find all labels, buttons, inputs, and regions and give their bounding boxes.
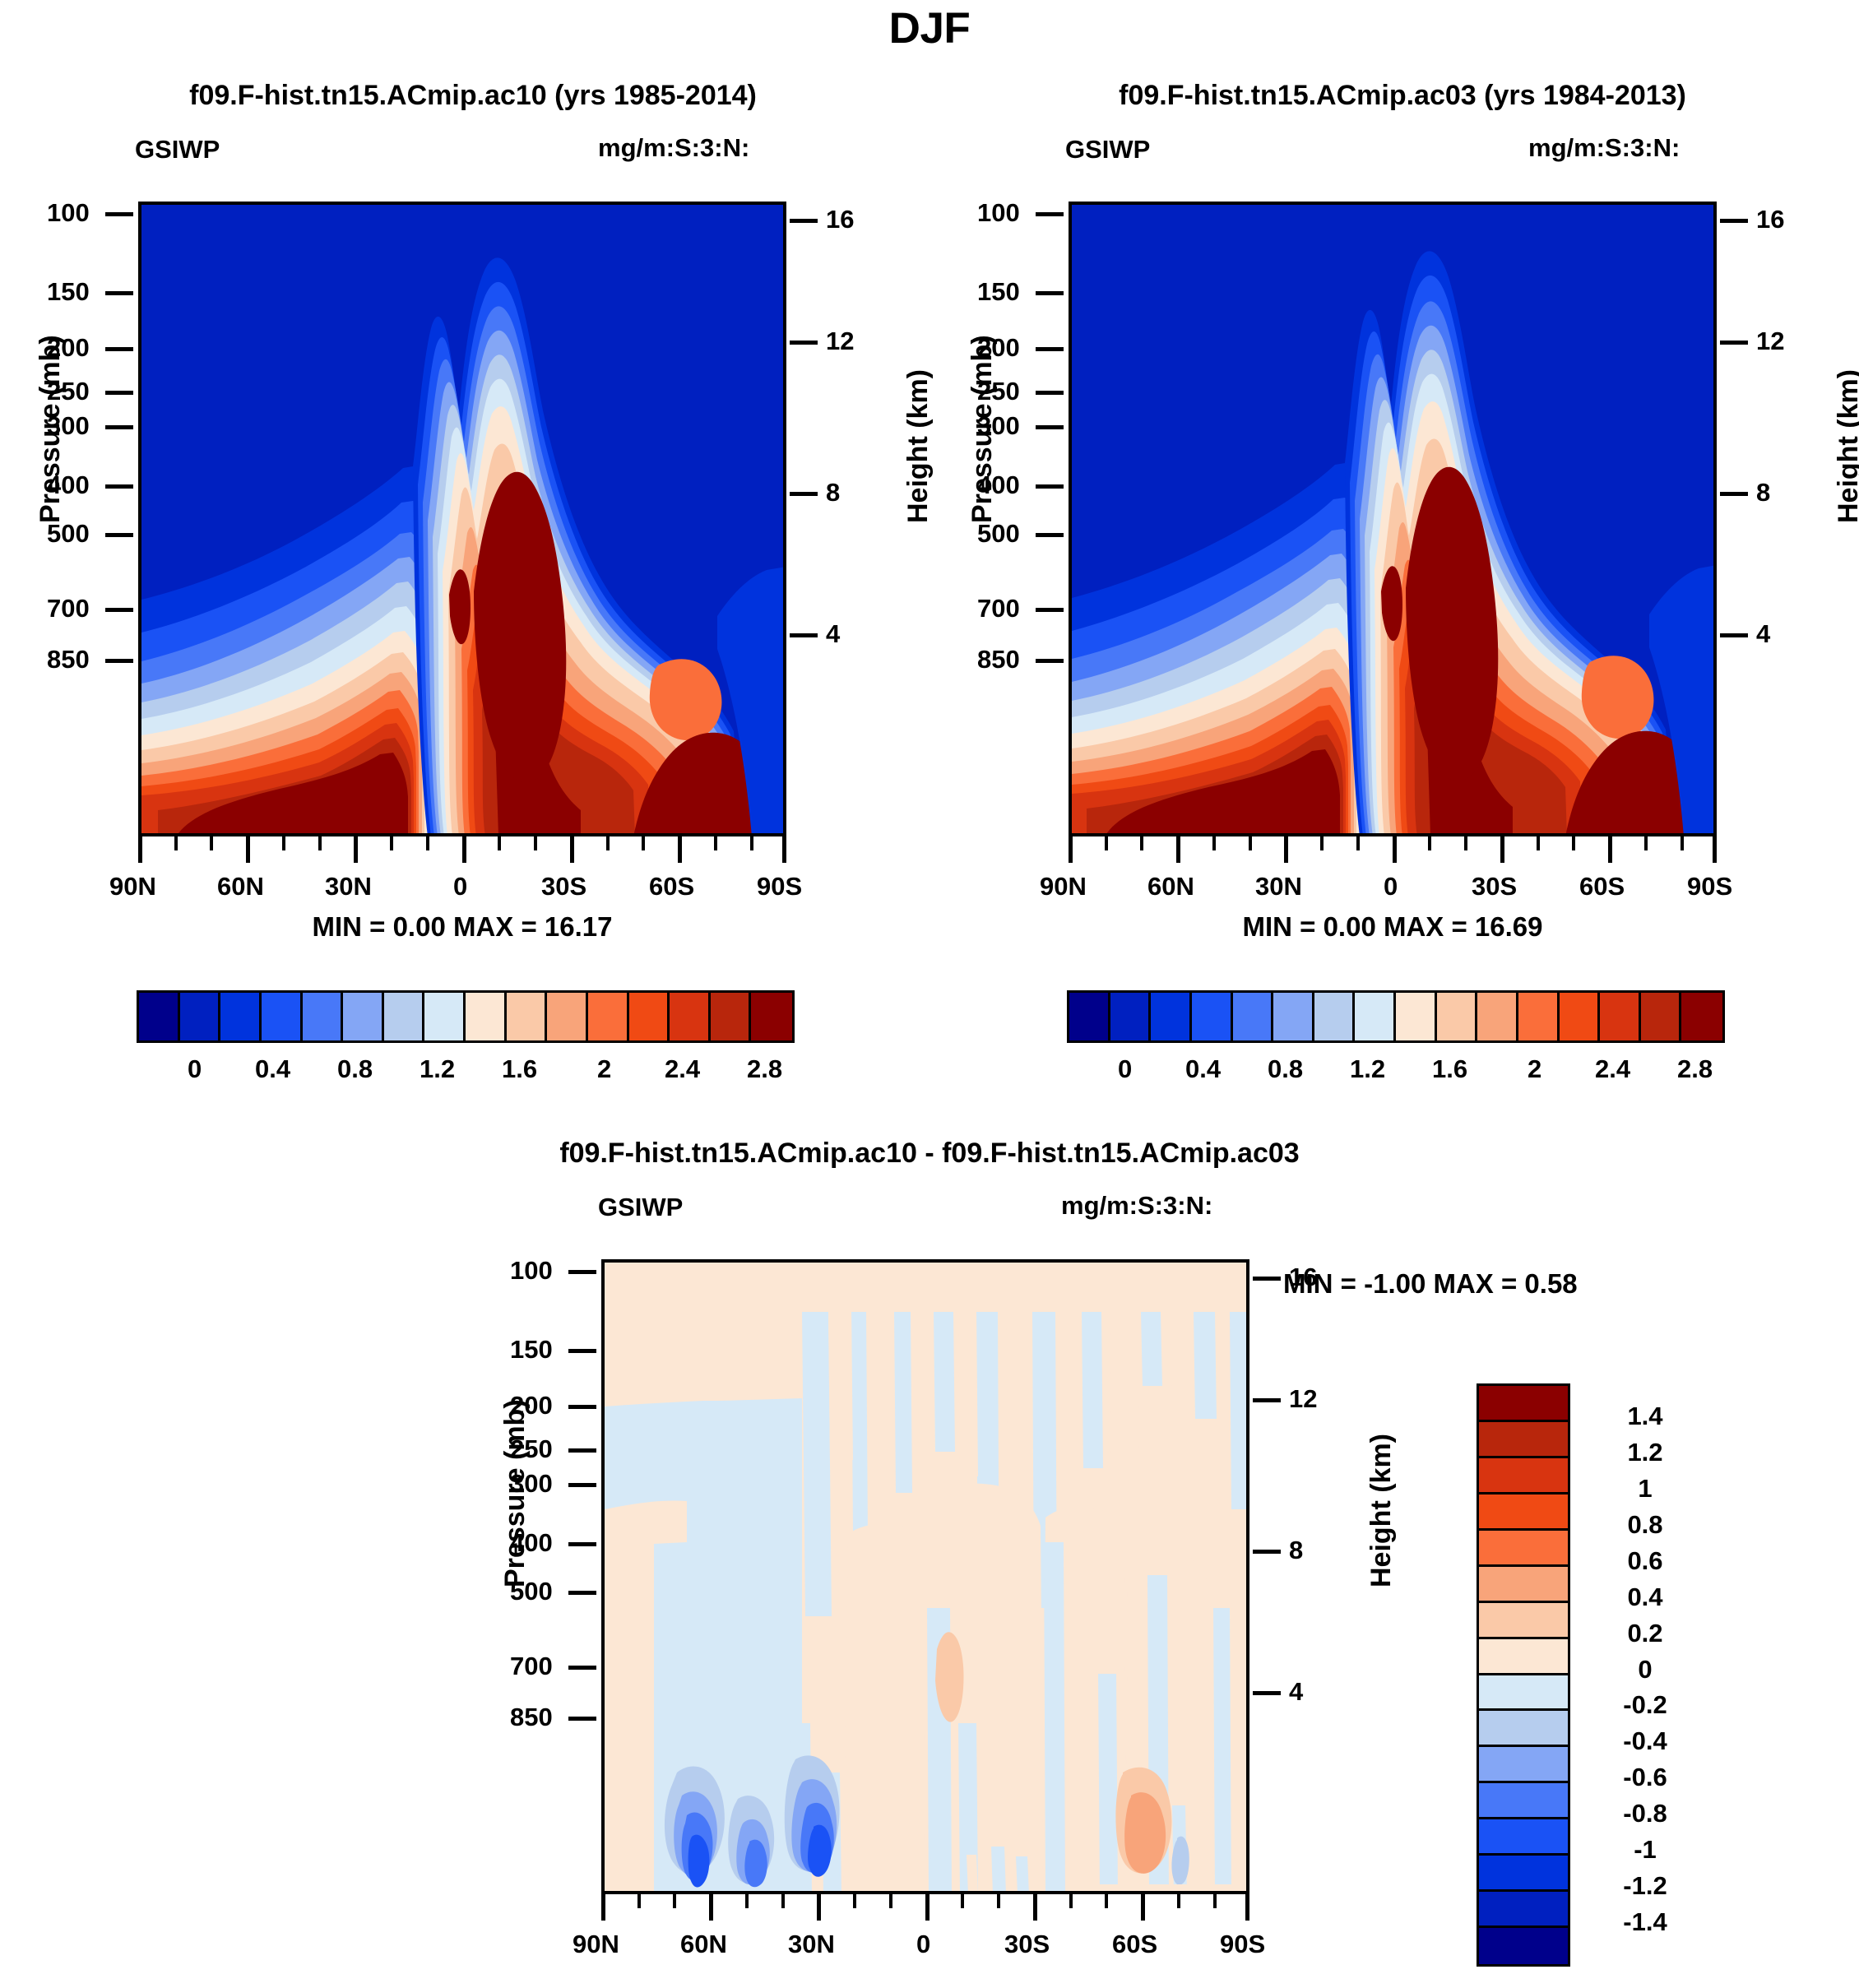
cbar-label: 1.2 <box>1588 1438 1703 1467</box>
y2tick-label: 12 <box>826 327 854 356</box>
cbar-label: 0.8 <box>1268 1054 1303 1084</box>
panel-left-minmax: MIN = 0.00 MAX = 16.17 <box>138 911 786 943</box>
xtick-mark <box>678 836 682 863</box>
xtick-minor <box>637 1894 641 1908</box>
xtick-minor <box>318 836 322 850</box>
panel-right-var-label: GSIWP <box>1065 135 1150 165</box>
figure-root: DJF f09.F-hist.tn15.ACmip.ac10 (yrs 1985… <box>0 0 1859 1988</box>
ytick-label: 500 <box>47 519 90 549</box>
xtick-label: 30N <box>325 872 372 901</box>
xtick-minor <box>282 836 285 850</box>
cbar-label: 2.8 <box>1677 1054 1713 1084</box>
panel-diff-var-label: GSIWP <box>598 1193 683 1222</box>
colorbar-cell <box>1110 993 1152 1040</box>
xtick-minor <box>1537 836 1540 850</box>
cbar-label: 2 <box>1528 1054 1541 1084</box>
colorbar-cell <box>670 993 711 1040</box>
xtick-mark <box>1713 836 1717 863</box>
y2tick-mark <box>1720 633 1748 637</box>
xtick-label: 60S <box>649 872 694 901</box>
y2tick-label: 4 <box>1289 1677 1303 1707</box>
colorbar-cell <box>1479 1928 1568 1964</box>
cbar-label: 0.2 <box>1588 1619 1703 1648</box>
ytick-mark <box>105 291 133 295</box>
panel-left-plot <box>138 202 786 836</box>
ytick-label: 150 <box>510 1335 553 1365</box>
figure-suptitle: DJF <box>0 3 1859 53</box>
cbar-label: -1.2 <box>1588 1871 1703 1901</box>
xtick-minor <box>750 836 753 850</box>
panel-left-colorbar <box>137 990 795 1043</box>
ytick-mark <box>105 391 133 395</box>
ytick-label: 250 <box>47 377 90 406</box>
y2tick-mark <box>1253 1691 1281 1695</box>
y2tick-mark <box>1253 1398 1281 1402</box>
cbar-label: -1.4 <box>1588 1907 1703 1937</box>
ytick-label: 100 <box>510 1256 553 1286</box>
xtick-minor <box>745 1894 749 1908</box>
ytick-mark <box>105 425 133 429</box>
y2tick-label: 16 <box>826 205 854 234</box>
colorbar-cell <box>303 993 344 1040</box>
ytick-label: 500 <box>977 519 1020 549</box>
cbar-label: 1.4 <box>1588 1402 1703 1431</box>
colorbar-cell <box>1479 1531 1568 1567</box>
xtick-label: 90N <box>1040 872 1087 901</box>
y2tick-mark <box>790 492 818 496</box>
xtick-mark <box>1033 1894 1037 1921</box>
xtick-mark <box>1608 836 1612 863</box>
ytick-label: 300 <box>510 1469 553 1499</box>
xtick-label: 60S <box>1579 872 1625 901</box>
ytick-label: 100 <box>47 198 90 228</box>
colorbar-cell <box>1479 1783 1568 1819</box>
xtick-mark <box>1245 1894 1249 1921</box>
panel-right-colorbar <box>1067 990 1725 1043</box>
colorbar-cell <box>711 993 752 1040</box>
xtick-minor <box>1140 836 1143 850</box>
colorbar-cell <box>1479 1819 1568 1856</box>
xtick-mark <box>462 836 466 863</box>
y2tick-label: 16 <box>1756 205 1784 234</box>
cbar-label: 0.4 <box>1588 1583 1703 1612</box>
ytick-label: 200 <box>510 1391 553 1420</box>
xtick-minor <box>673 1894 676 1908</box>
xtick-minor <box>174 836 178 850</box>
colorbar-cell <box>1355 993 1396 1040</box>
colorbar-cell <box>1479 1639 1568 1675</box>
colorbar-cell <box>1479 1422 1568 1458</box>
cbar-label: 0.8 <box>1588 1510 1703 1540</box>
ytick-label: 500 <box>510 1577 553 1606</box>
xtick-minor <box>1356 836 1360 850</box>
xtick-minor <box>606 836 610 850</box>
cbar-label: -0.4 <box>1588 1726 1703 1756</box>
xtick-minor <box>1644 836 1648 850</box>
ytick-mark <box>105 484 133 489</box>
colorbar-cell <box>507 993 548 1040</box>
colorbar-cell <box>180 993 221 1040</box>
cbar-label: -0.6 <box>1588 1763 1703 1792</box>
colorbar-cell <box>1479 1675 1568 1712</box>
panel-right-contours <box>1072 205 1717 836</box>
panel-diff-plot <box>601 1259 1249 1894</box>
cbar-label: -0.2 <box>1588 1690 1703 1720</box>
xtick-mark <box>817 1894 821 1921</box>
colorbar-cell <box>220 993 262 1040</box>
xtick-minor <box>1213 1894 1217 1908</box>
colorbar-cell <box>139 993 180 1040</box>
ytick-mark <box>568 1270 596 1274</box>
cbar-label: -1 <box>1588 1835 1703 1865</box>
xtick-minor <box>1572 836 1575 850</box>
colorbar-cell <box>1479 1386 1568 1422</box>
xtick-mark <box>138 836 142 863</box>
colorbar-cell <box>1192 993 1233 1040</box>
cbar-label: 1.2 <box>420 1054 455 1084</box>
colorbar-cell <box>466 993 507 1040</box>
ytick-label: 300 <box>47 411 90 441</box>
y2tick-label: 8 <box>1756 478 1770 507</box>
cbar-label: 1 <box>1588 1474 1703 1504</box>
colorbar-cell <box>1479 1494 1568 1531</box>
panel-left-title: f09.F-hist.tn15.ACmip.ac10 (yrs 1985-201… <box>49 80 897 112</box>
xtick-label: 90N <box>109 872 156 901</box>
ytick-mark <box>568 1666 596 1670</box>
colorbar-cell <box>1479 1458 1568 1494</box>
xtick-label: 90S <box>1687 872 1732 901</box>
panel-right-units-label: mg/m:S:3:N: <box>1528 133 1680 163</box>
panel-left-contours <box>141 205 786 836</box>
colorbar-cell <box>1518 993 1560 1040</box>
ytick-label: 700 <box>977 594 1020 623</box>
xtick-minor <box>961 1894 964 1908</box>
xtick-mark <box>925 1894 929 1921</box>
ytick-mark <box>1036 608 1064 612</box>
cbar-label: 2 <box>597 1054 611 1084</box>
colorbar-cell <box>262 993 303 1040</box>
ytick-label: 250 <box>510 1434 553 1464</box>
xtick-label: 30S <box>1472 872 1517 901</box>
ytick-mark <box>568 1405 596 1409</box>
xtick-mark <box>709 1894 713 1921</box>
ytick-label: 700 <box>510 1652 553 1681</box>
cbar-label: 1.6 <box>502 1054 537 1084</box>
xtick-minor <box>1320 836 1324 850</box>
cbar-label: 0 <box>188 1054 202 1084</box>
xtick-mark <box>1176 836 1180 863</box>
xtick-label: 60N <box>217 872 264 901</box>
cbar-label: 2.4 <box>1595 1054 1630 1084</box>
panel-diff-title: f09.F-hist.tn15.ACmip.ac10 - f09.F-hist.… <box>354 1138 1505 1170</box>
ytick-label: 100 <box>977 198 1020 228</box>
panel-right-minmax: MIN = 0.00 MAX = 16.69 <box>1069 911 1717 943</box>
xtick-minor <box>498 836 501 850</box>
xtick-minor <box>1177 1894 1180 1908</box>
ytick-mark <box>568 1591 596 1595</box>
colorbar-cell <box>384 993 425 1040</box>
colorbar-cell <box>1479 1747 1568 1783</box>
ytick-mark <box>105 659 133 663</box>
xtick-minor <box>426 836 429 850</box>
xtick-label: 30N <box>788 1930 835 1959</box>
colorbar-cell <box>1479 1567 1568 1603</box>
panel-left-var-label: GSIWP <box>135 135 220 165</box>
ytick-label: 200 <box>977 333 1020 363</box>
cbar-label: 0.4 <box>255 1054 290 1084</box>
xtick-minor <box>210 836 213 850</box>
ytick-mark <box>105 608 133 612</box>
colorbar-cell <box>424 993 466 1040</box>
xtick-label: 90S <box>1220 1930 1265 1959</box>
xtick-label: 60N <box>680 1930 727 1959</box>
ytick-mark <box>1036 212 1064 216</box>
xtick-mark <box>601 1894 605 1921</box>
panel-right-y2label: Height (km) <box>1833 369 1859 523</box>
ytick-label: 250 <box>977 377 1020 406</box>
xtick-mark <box>1393 836 1397 863</box>
ytick-mark <box>568 1349 596 1353</box>
colorbar-cell <box>1479 1711 1568 1747</box>
ytick-label: 700 <box>47 594 90 623</box>
ytick-mark <box>1036 391 1064 395</box>
colorbar-cell <box>1681 993 1722 1040</box>
ytick-label: 150 <box>977 277 1020 307</box>
panel-right-title: f09.F-hist.tn15.ACmip.ac03 (yrs 1984-201… <box>979 80 1826 112</box>
xtick-mark <box>1500 836 1504 863</box>
panel-left-units-label: mg/m:S:3:N: <box>598 133 749 163</box>
y2tick-label: 4 <box>1756 619 1770 649</box>
ytick-label: 200 <box>47 333 90 363</box>
colorbar-cell <box>1151 993 1192 1040</box>
colorbar-cell <box>1560 993 1601 1040</box>
xtick-minor <box>1681 836 1684 850</box>
panel-diff-minmax: MIN = -1.00 MAX = 0.58 <box>1283 1268 1810 1300</box>
xtick-label: 0 <box>453 872 467 901</box>
xtick-minor <box>1105 1894 1108 1908</box>
xtick-minor <box>1249 836 1252 850</box>
xtick-minor <box>1428 836 1431 850</box>
y2tick-mark <box>1253 1550 1281 1554</box>
y2tick-label: 12 <box>1289 1384 1317 1414</box>
cbar-label: 2.4 <box>665 1054 700 1084</box>
colorbar-cell <box>1273 993 1314 1040</box>
xtick-label: 30S <box>541 872 586 901</box>
cbar-label: 1.6 <box>1432 1054 1467 1084</box>
cbar-label: -0.8 <box>1588 1799 1703 1828</box>
ytick-label: 850 <box>510 1703 553 1732</box>
ytick-mark <box>568 1717 596 1721</box>
xtick-minor <box>853 1894 856 1908</box>
colorbar-cell <box>1479 1892 1568 1928</box>
colorbar-cell <box>547 993 588 1040</box>
y2tick-label: 12 <box>1756 327 1784 356</box>
ytick-mark <box>105 533 133 537</box>
xtick-mark <box>1141 1894 1145 1921</box>
xtick-minor <box>1464 836 1467 850</box>
ytick-mark <box>1036 533 1064 537</box>
panel-right-plot <box>1069 202 1717 836</box>
xtick-mark <box>570 836 574 863</box>
xtick-mark <box>354 836 358 863</box>
ytick-mark <box>568 1448 596 1453</box>
xtick-mark <box>1284 836 1288 863</box>
ytick-label: 400 <box>47 470 90 500</box>
ytick-label: 300 <box>977 411 1020 441</box>
panel-diff-y2label: Height (km) <box>1365 1434 1398 1587</box>
xtick-label: 30S <box>1004 1930 1050 1959</box>
xtick-minor <box>781 1894 785 1908</box>
ytick-label: 150 <box>47 277 90 307</box>
colorbar-cell <box>1069 993 1110 1040</box>
cbar-label: 2.8 <box>747 1054 782 1084</box>
ytick-label: 850 <box>47 645 90 674</box>
colorbar-cell <box>1479 1856 1568 1892</box>
xtick-label: 0 <box>1384 872 1398 901</box>
y2tick-mark <box>1720 341 1748 345</box>
xtick-minor <box>534 836 537 850</box>
cbar-label: 0 <box>1588 1655 1703 1684</box>
colorbar-cell <box>1479 1603 1568 1639</box>
ytick-mark <box>105 212 133 216</box>
colorbar-cell <box>1437 993 1478 1040</box>
y2tick-label: 4 <box>826 619 840 649</box>
colorbar-cell <box>751 993 792 1040</box>
cbar-label: 0.4 <box>1185 1054 1221 1084</box>
ytick-mark <box>1036 484 1064 489</box>
panel-diff-colorbar <box>1477 1383 1570 1967</box>
xtick-label: 30N <box>1255 872 1302 901</box>
colorbar-cell <box>1641 993 1682 1040</box>
colorbar-cell <box>1233 993 1274 1040</box>
cbar-label: 0 <box>1118 1054 1132 1084</box>
cbar-label: 0.6 <box>1588 1546 1703 1576</box>
colorbar-cell <box>1314 993 1356 1040</box>
panel-diff-contours <box>605 1263 1249 1894</box>
cbar-label: 0.8 <box>337 1054 373 1084</box>
ytick-mark <box>1036 425 1064 429</box>
xtick-minor <box>390 836 393 850</box>
colorbar-cell <box>1396 993 1437 1040</box>
ytick-mark <box>1036 347 1064 351</box>
ytick-mark <box>1036 291 1064 295</box>
colorbar-cell <box>588 993 629 1040</box>
y2tick-mark <box>1720 219 1748 223</box>
xtick-minor <box>889 1894 892 1908</box>
xtick-minor <box>642 836 645 850</box>
y2tick-label: 8 <box>1289 1536 1303 1565</box>
xtick-mark <box>782 836 786 863</box>
y2tick-mark <box>1720 492 1748 496</box>
xtick-mark <box>246 836 250 863</box>
panel-left-y2label: Height (km) <box>902 369 934 523</box>
ytick-mark <box>568 1483 596 1487</box>
colorbar-cell <box>1477 993 1518 1040</box>
xtick-label: 90S <box>757 872 802 901</box>
xtick-label: 60N <box>1147 872 1194 901</box>
ytick-label: 850 <box>977 645 1020 674</box>
ytick-mark <box>568 1542 596 1546</box>
colorbar-cell <box>629 993 670 1040</box>
ytick-label: 400 <box>977 470 1020 500</box>
xtick-label: 60S <box>1112 1930 1157 1959</box>
y2tick-mark <box>790 633 818 637</box>
cbar-label: 1.2 <box>1350 1054 1385 1084</box>
y2tick-label: 8 <box>826 478 840 507</box>
xtick-minor <box>1069 1894 1073 1908</box>
xtick-mark <box>1069 836 1073 863</box>
colorbar-cell <box>343 993 384 1040</box>
ytick-label: 400 <box>510 1528 553 1558</box>
y2tick-mark <box>790 219 818 223</box>
ytick-mark <box>1036 659 1064 663</box>
colorbar-cell <box>1600 993 1641 1040</box>
xtick-label: 0 <box>916 1930 930 1959</box>
ytick-mark <box>105 347 133 351</box>
panel-diff-units-label: mg/m:S:3:N: <box>1061 1191 1212 1221</box>
xtick-minor <box>997 1894 1000 1908</box>
xtick-label: 90N <box>573 1930 619 1959</box>
xtick-minor <box>714 836 717 850</box>
xtick-minor <box>1105 836 1108 850</box>
y2tick-mark <box>790 341 818 345</box>
y2tick-mark <box>1253 1277 1281 1281</box>
xtick-minor <box>1212 836 1216 850</box>
